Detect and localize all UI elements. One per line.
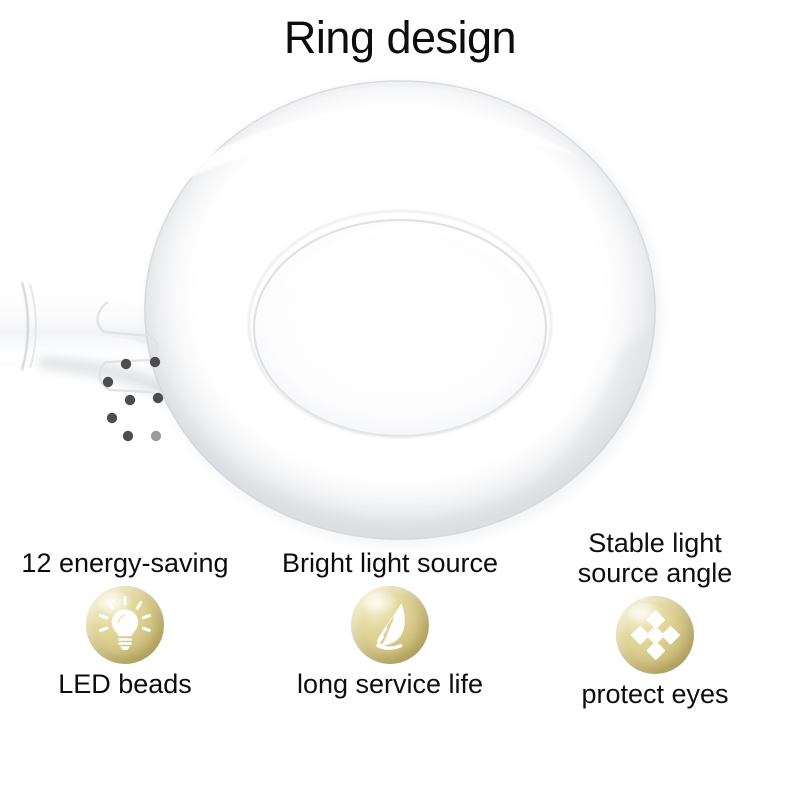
product-image [0, 70, 800, 550]
lamp-ring [144, 80, 662, 546]
feature-caption: protect eyes [525, 680, 785, 710]
lightbulb-icon [86, 586, 164, 664]
feature-title: Stable light source angle [525, 528, 785, 588]
page-title: Ring design [0, 14, 800, 61]
leaf-icon [351, 586, 429, 664]
feature-protect-eyes: Stable light source angle protect eyes [525, 528, 785, 710]
feature-title: Bright light source [260, 548, 520, 578]
feature-long-service-life: Bright light source long service life [260, 548, 520, 700]
feature-title: 12 energy-saving [0, 548, 255, 578]
diamonds-icon [616, 596, 694, 674]
feature-led-beads: 12 energy-saving [0, 548, 255, 700]
feature-caption: LED beads [0, 670, 255, 700]
feature-caption: long service life [260, 670, 520, 700]
